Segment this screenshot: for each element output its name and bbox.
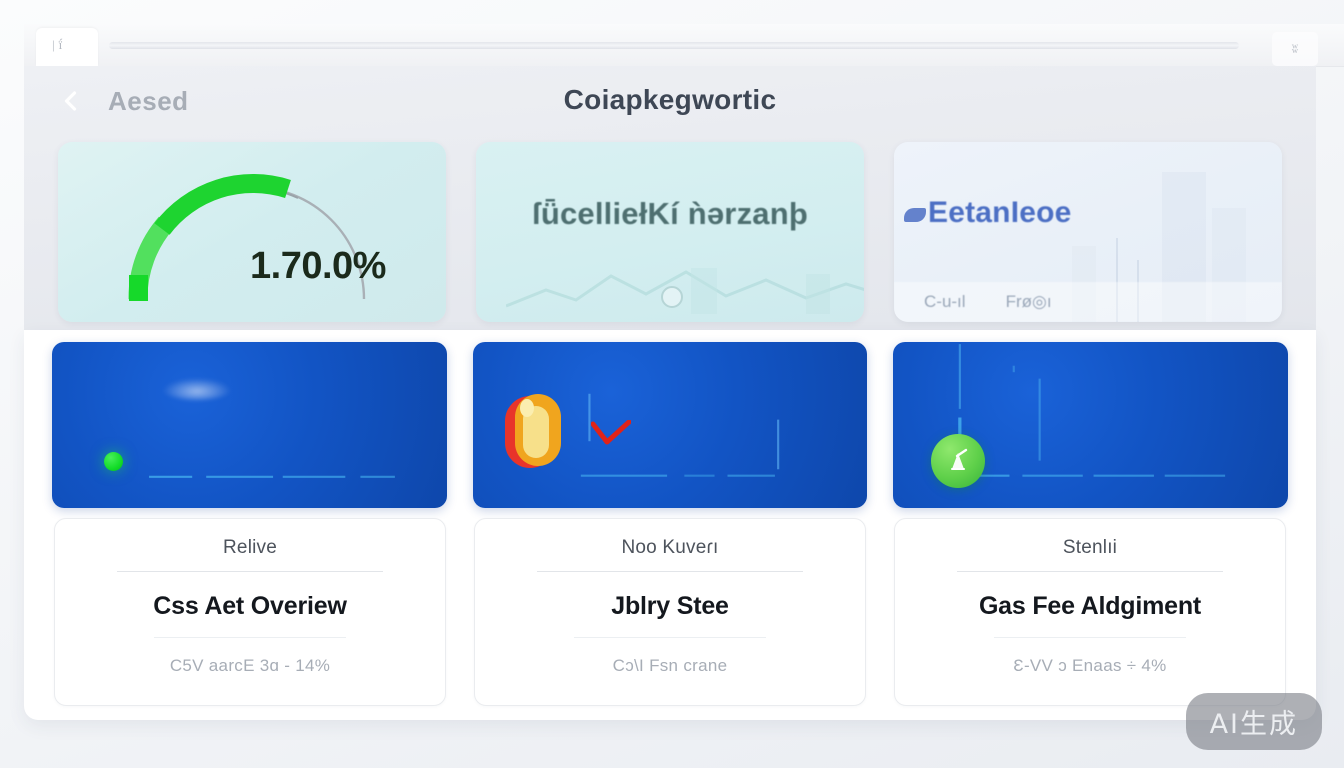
info-card-row: Relive Css Aet Overiew C5V aarcE 3ɑ - 14…	[54, 518, 1286, 706]
leaf-icon	[904, 208, 926, 222]
gauge-chart: 1.70.0%	[102, 157, 402, 307]
address-bar[interactable]	[109, 42, 1239, 49]
info-card-eyebrow: Noo Kuveɾı	[499, 537, 841, 559]
banner-decoration-icon	[52, 342, 447, 508]
info-card-divider	[957, 571, 1224, 572]
info-card-title: Gas Fee Aldgiment	[919, 592, 1261, 621]
info-card[interactable]: Noo Kuveɾı Jblry Stee Cɔ\I Fsn crane	[474, 518, 866, 706]
info-card-divider-secondary	[154, 637, 346, 638]
app-frame: |ḯ ʬ Aesed Coiapkegwortic	[0, 0, 1344, 768]
cloud-decoration-icon	[162, 378, 232, 400]
right-card-label: ЕеtаnІеое	[928, 196, 1072, 230]
browser-chrome-bar: |ḯ ʬ	[24, 24, 1344, 67]
right-card-footer-right: Frø◎ı	[1006, 292, 1052, 312]
banner-card-three[interactable]	[893, 342, 1288, 508]
info-card-subtitle: Ɛ-VV ɔ Enaas ÷ 4%	[919, 656, 1261, 676]
info-card[interactable]: Relive Css Aet Overiew C5V aarcE 3ɑ - 14…	[54, 518, 446, 706]
info-card[interactable]: Stenlıi Gas Fee Aldgiment Ɛ-VV ɔ Enaas ÷…	[894, 518, 1286, 706]
info-card-divider	[537, 571, 804, 572]
info-card-subtitle: Cɔ\I Fsn crane	[499, 656, 841, 676]
rocket-badge-icon	[931, 434, 985, 488]
tab-favicon-icon: |ḯ	[52, 37, 66, 53]
capsule-token-icon	[503, 392, 565, 470]
middle-card-indicator-icon	[661, 286, 683, 308]
banner-row	[52, 342, 1288, 508]
info-card-divider	[117, 571, 384, 572]
right-card-footer: C-u-ıl Frø◎ı	[894, 282, 1282, 322]
browser-menu-icon[interactable]: ʬ	[1272, 32, 1318, 66]
green-status-dot-icon	[104, 452, 123, 471]
info-card-subtitle: C5V aarcE 3ɑ - 14%	[79, 656, 421, 676]
banner-card-two[interactable]	[473, 342, 868, 508]
middle-metric-card[interactable]: ſǖcelliełKí ǹǝrzanþ	[476, 142, 864, 322]
info-card-divider-secondary	[994, 637, 1186, 638]
ghost-chart-icon	[506, 250, 864, 314]
info-card-divider-secondary	[574, 637, 766, 638]
info-card-title: Css Aet Overiew	[79, 592, 421, 621]
page-header: Aesed Coiapkegwortic	[24, 66, 1316, 138]
gauge-metric-card[interactable]: 1.70.0%	[58, 142, 446, 322]
right-metric-card[interactable]: ЕеtаnІеое C-u-ıl Frø◎ı	[894, 142, 1282, 322]
content-panel: Relive Css Aet Overiew C5V aarcE 3ɑ - 14…	[24, 330, 1316, 720]
info-card-eyebrow: Relive	[79, 537, 421, 559]
metric-card-row: 1.70.0% ſǖcelliełKí ǹǝrzanþ	[58, 142, 1282, 322]
ai-generated-watermark: AI生成	[1186, 693, 1322, 750]
right-card-footer-left: C-u-ıl	[924, 292, 966, 312]
middle-card-label: ſǖcelliełKí ǹǝrzanþ	[476, 196, 864, 232]
banner-card-one[interactable]	[52, 342, 447, 508]
hero-band: Aesed Coiapkegwortic 1.70.0%	[24, 66, 1316, 330]
gauge-value-label: 1.70.0%	[250, 245, 386, 288]
red-check-icon	[591, 420, 631, 446]
info-card-title: Jblry Stee	[499, 592, 841, 621]
info-card-eyebrow: Stenlıi	[919, 537, 1261, 559]
rocket-icon	[944, 447, 972, 475]
page-title: Coiapkegwortic	[24, 84, 1316, 116]
browser-tab[interactable]: |ḯ	[36, 28, 98, 66]
